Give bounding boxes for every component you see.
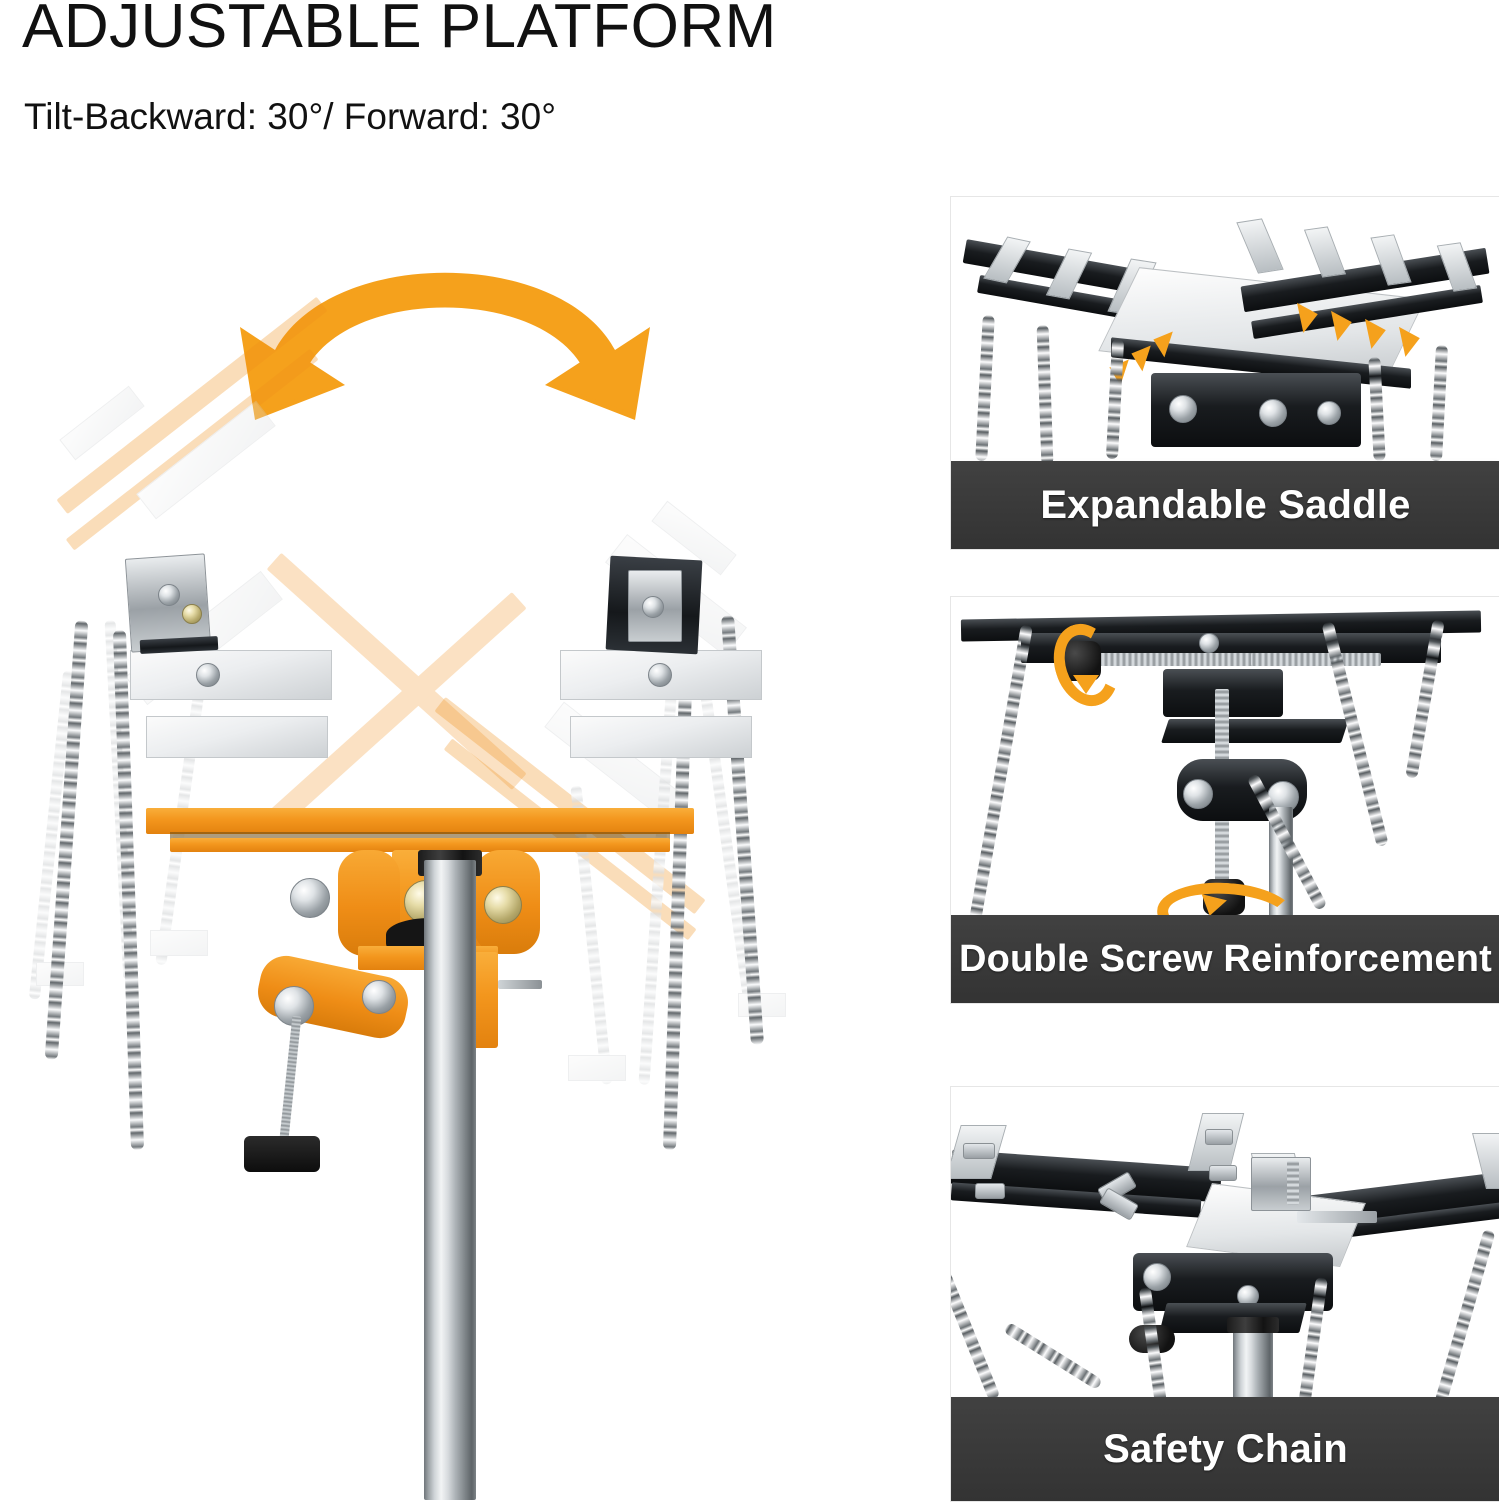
saddle-arm-left-lower: [146, 716, 328, 758]
caption-bar-expandable-saddle: Expandable Saddle: [951, 461, 1499, 549]
saddle-chain-3: [1106, 339, 1124, 459]
support-post: [424, 860, 476, 1500]
saddle-chain-5: [1430, 345, 1448, 461]
handle-knob: [244, 1136, 320, 1172]
center-bolt-left: [290, 878, 330, 918]
saddle-arm-right-lower: [570, 716, 752, 758]
page-title: ADJUSTABLE PLATFORM: [22, 0, 777, 58]
clamp-bolt-right: [642, 596, 664, 618]
safety-chain-right-2: [1434, 1229, 1495, 1405]
caption-text-expandable-saddle: Expandable Saddle: [1040, 483, 1410, 528]
clamp-bolt-left: [158, 584, 180, 606]
center-bolt-right: [484, 886, 522, 924]
arm-slot-bolt-left: [196, 663, 220, 687]
saddle-arm-left: [130, 650, 332, 700]
handle-rod: [280, 1016, 302, 1138]
clamp-nut-left: [182, 604, 202, 624]
caption-bar-double-screw: Double Screw Reinforcement: [951, 915, 1499, 1003]
collar-pin: [498, 980, 542, 989]
saddle-chain-1: [975, 315, 995, 461]
arm-slot-bolt-right: [648, 663, 672, 687]
feature-panel-safety-chain: Safety Chain: [950, 1086, 1499, 1502]
caption-text-safety-chain: Safety Chain: [1103, 1427, 1348, 1472]
chain-far-left: [45, 620, 89, 1060]
screw-chain-left: [969, 624, 1033, 922]
platform-assembly: [0, 160, 940, 1500]
upper-screw-rod-2: [1251, 653, 1381, 666]
caption-bar-safety-chain: Safety Chain: [951, 1397, 1499, 1501]
hero-illustration: [0, 160, 940, 1500]
chain-left: [113, 630, 144, 1150]
feature-panel-double-screw: Double Screw Reinforcement: [950, 596, 1499, 1004]
chain-right: [663, 630, 694, 1150]
upper-rotation-arrow-tip-icon: [1073, 675, 1099, 694]
safety-chain-left: [951, 1239, 1000, 1401]
swing-arm-pin: [362, 980, 396, 1014]
safety-chain-left-2: [1003, 1322, 1103, 1390]
feature-panel-expandable-saddle: Expandable Saddle: [950, 196, 1499, 550]
caption-text-double-screw: Double Screw Reinforcement: [959, 938, 1492, 981]
main-beam: [146, 808, 694, 834]
expand-chevron-right-4: [1399, 323, 1423, 357]
page-subtitle: Tilt-Backward: 30°/ Forward: 30°: [24, 96, 556, 138]
saddle-chain-2: [1037, 325, 1054, 465]
